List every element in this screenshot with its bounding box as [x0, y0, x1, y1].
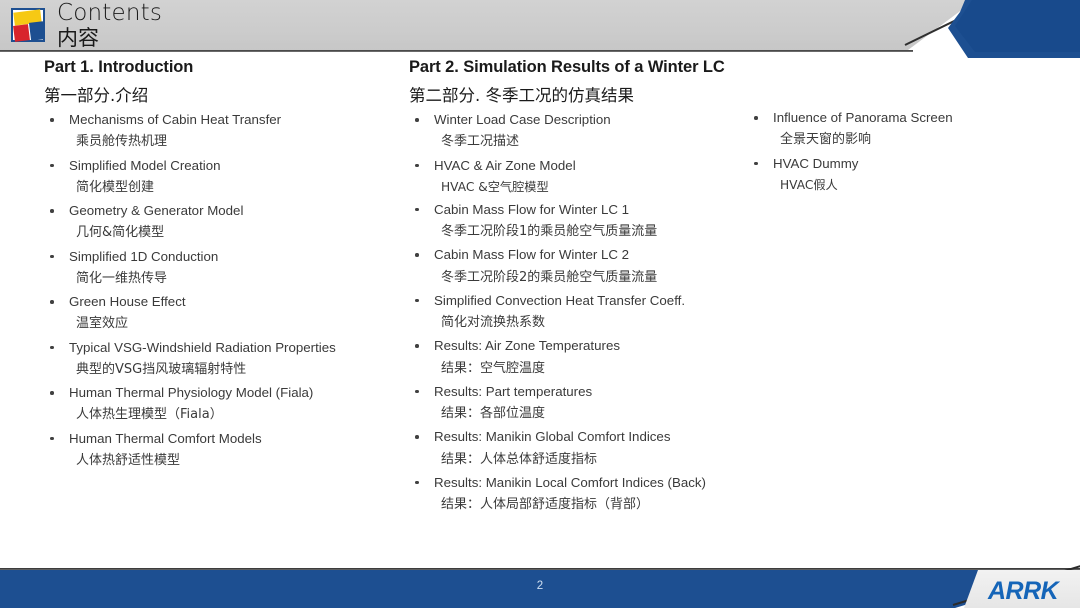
bullet-dot-icon — [415, 390, 419, 394]
bullet-dot-icon — [415, 481, 419, 485]
list-item[interactable]: Results: Manikin Local Comfort Indices (… — [409, 475, 744, 521]
list-item[interactable]: Simplified Model Creation 简化模型创建 — [44, 158, 406, 204]
bullet-dot-icon — [754, 116, 758, 120]
slide-canvas: Contents 内容 Part 1. Introduction 第一部分.介绍… — [0, 0, 1080, 608]
list-item-label-en: Winter Load Case Description — [434, 112, 744, 129]
list-item-label-en: Influence of Panorama Screen — [773, 110, 1078, 127]
list-item-label-en: Human Thermal Physiology Model (Fiala) — [69, 385, 406, 402]
list-item[interactable]: Human Thermal Physiology Model (Fiala) 人… — [44, 385, 406, 431]
list-item-label-cn: 人体热生理模型（Fiala） — [69, 402, 406, 424]
list-item-label-en: Results: Manikin Local Comfort Indices (… — [434, 475, 744, 492]
part-title-en: Part 1. Introduction — [44, 58, 406, 79]
list-item-label-cn: HVAC &空气腔模型 — [434, 174, 744, 195]
list-item-label-cn: 冬季工况描述 — [434, 129, 744, 151]
list-item-label-en: HVAC & Air Zone Model — [434, 158, 744, 175]
list-item-label-en: Typical VSG-Windshield Radiation Propert… — [69, 340, 406, 357]
arrk-brand-label: ARRK — [988, 577, 1058, 606]
logo-red-block — [13, 24, 30, 42]
list-item-label-en: Results: Air Zone Temperatures — [434, 338, 744, 355]
list-item-label-cn: 全景天窗的影响 — [773, 127, 1078, 149]
slide-footer: 2 ARRK — [0, 568, 1080, 608]
list-item-label-en: Green House Effect — [69, 294, 406, 311]
bullet-dot-icon — [415, 299, 419, 303]
list-item[interactable]: HVAC Dummy HVAC假人 — [748, 156, 1078, 200]
contents-column-2: Part 2. Simulation Results of a Winter L… — [409, 58, 744, 520]
list-item-label-cn: 人体热舒适性模型 — [69, 447, 406, 469]
list-item-label-cn: 乘员舱传热机理 — [69, 129, 406, 151]
list-item[interactable]: HVAC & Air Zone Model HVAC &空气腔模型 — [409, 158, 744, 202]
bullet-dot-icon — [50, 255, 54, 259]
list-item-label-en: Cabin Mass Flow for Winter LC 2 — [434, 247, 744, 264]
list-item[interactable]: Human Thermal Comfort Models 人体热舒适性模型 — [44, 431, 406, 477]
header-underline — [0, 50, 913, 52]
slide-content: Part 1. Introduction 第一部分.介绍 Mechanisms … — [0, 58, 1080, 568]
bullet-dot-icon — [50, 391, 54, 395]
list-item-label-en: Simplified Convection Heat Transfer Coef… — [434, 293, 744, 310]
bullet-dot-icon — [415, 253, 419, 257]
bullet-dot-icon — [415, 164, 419, 168]
list-item-label-cn: 结果：人体总体舒适度指标 — [434, 446, 744, 468]
part-title-cn: 第一部分.介绍 — [44, 79, 406, 112]
list-item[interactable]: Geometry & Generator Model 几何&简化模型 — [44, 203, 406, 249]
list-item-label-en: Geometry & Generator Model — [69, 203, 406, 220]
list-item-label-en: HVAC Dummy — [773, 156, 1078, 173]
list-item-label-cn: 冬季工况阶段2的乘员舱空气质量流量 — [434, 264, 744, 286]
list-item-label-en: Simplified 1D Conduction — [69, 249, 406, 266]
contents-column-3: Influence of Panorama Screen 全景天窗的影响 HVA… — [748, 58, 1078, 200]
header-title-group: Contents 内容 — [57, 0, 162, 49]
list-item-label-en: Cabin Mass Flow for Winter LC 1 — [434, 202, 744, 219]
list-item-label-cn: 简化一维热传导 — [69, 265, 406, 287]
list-item[interactable]: Results: Air Zone Temperatures 结果：空气腔温度 — [409, 338, 744, 384]
bullet-dot-icon — [415, 208, 419, 212]
list-item[interactable]: Cabin Mass Flow for Winter LC 1 冬季工况阶段1的… — [409, 202, 744, 248]
list-item[interactable]: Green House Effect 温室效应 — [44, 294, 406, 340]
list-item[interactable]: Cabin Mass Flow for Winter LC 2 冬季工况阶段2的… — [409, 247, 744, 293]
list-item[interactable]: Results: Part temperatures 结果：各部位温度 — [409, 384, 744, 430]
company-logo-icon — [8, 5, 48, 45]
bullet-dot-icon — [50, 118, 54, 122]
bullet-dot-icon — [50, 437, 54, 441]
list-item[interactable]: Results: Manikin Global Comfort Indices … — [409, 429, 744, 475]
contents-list: Influence of Panorama Screen 全景天窗的影响 HVA… — [748, 58, 1078, 200]
list-item-label-cn: 结果：人体局部舒适度指标（背部） — [434, 492, 744, 514]
list-item[interactable]: Influence of Panorama Screen 全景天窗的影响 — [748, 110, 1078, 156]
list-item-label-en: Mechanisms of Cabin Heat Transfer — [69, 112, 406, 129]
contents-list: Winter Load Case Description 冬季工况描述 HVAC… — [409, 112, 744, 520]
list-item-label-cn: 简化模型创建 — [69, 174, 406, 196]
slide-header: Contents 内容 — [0, 0, 1080, 58]
bullet-dot-icon — [50, 164, 54, 168]
footer-top-line — [0, 568, 1080, 570]
list-item-label-cn: 结果：各部位温度 — [434, 401, 744, 423]
list-item-label-en: Results: Part temperatures — [434, 384, 744, 401]
contents-column-1: Part 1. Introduction 第一部分.介绍 Mechanisms … — [44, 58, 406, 476]
bullet-dot-icon — [415, 118, 419, 122]
list-item[interactable]: Mechanisms of Cabin Heat Transfer 乘员舱传热机… — [44, 112, 406, 158]
page-number: 2 — [0, 580, 1080, 592]
list-item-label-en: Results: Manikin Global Comfort Indices — [434, 429, 744, 446]
bullet-dot-icon — [754, 162, 758, 166]
page-title-en: Contents — [57, 0, 162, 25]
list-item[interactable]: Simplified 1D Conduction 简化一维热传导 — [44, 249, 406, 295]
part-title-en: Part 2. Simulation Results of a Winter L… — [409, 58, 744, 79]
list-item-label-en: Simplified Model Creation — [69, 158, 406, 175]
bullet-dot-icon — [415, 344, 419, 348]
bullet-dot-icon — [50, 300, 54, 304]
list-item[interactable]: Winter Load Case Description 冬季工况描述 — [409, 112, 744, 158]
part-title-cn: 第二部分. 冬季工况的仿真结果 — [409, 79, 744, 112]
list-item[interactable]: Simplified Convection Heat Transfer Coef… — [409, 293, 744, 339]
list-item-label-cn: 典型的VSG挡风玻璃辐射特性 — [69, 356, 406, 378]
list-item[interactable]: Typical VSG-Windshield Radiation Propert… — [44, 340, 406, 386]
bullet-dot-icon — [50, 209, 54, 213]
contents-list: Mechanisms of Cabin Heat Transfer 乘员舱传热机… — [44, 112, 406, 476]
bullet-dot-icon — [415, 435, 419, 439]
list-item-label-en: Human Thermal Comfort Models — [69, 431, 406, 448]
list-item-label-cn: HVAC假人 — [773, 172, 1078, 193]
bullet-dot-icon — [50, 346, 54, 350]
logo-blue-block — [29, 21, 45, 41]
list-item-label-cn: 冬季工况阶段1的乘员舱空气质量流量 — [434, 219, 744, 241]
list-item-label-cn: 简化对流换热系数 — [434, 310, 744, 332]
list-item-label-cn: 几何&简化模型 — [69, 220, 406, 242]
list-item-label-cn: 温室效应 — [69, 311, 406, 333]
list-item-label-cn: 结果：空气腔温度 — [434, 355, 744, 377]
page-title-cn: 内容 — [57, 25, 162, 49]
